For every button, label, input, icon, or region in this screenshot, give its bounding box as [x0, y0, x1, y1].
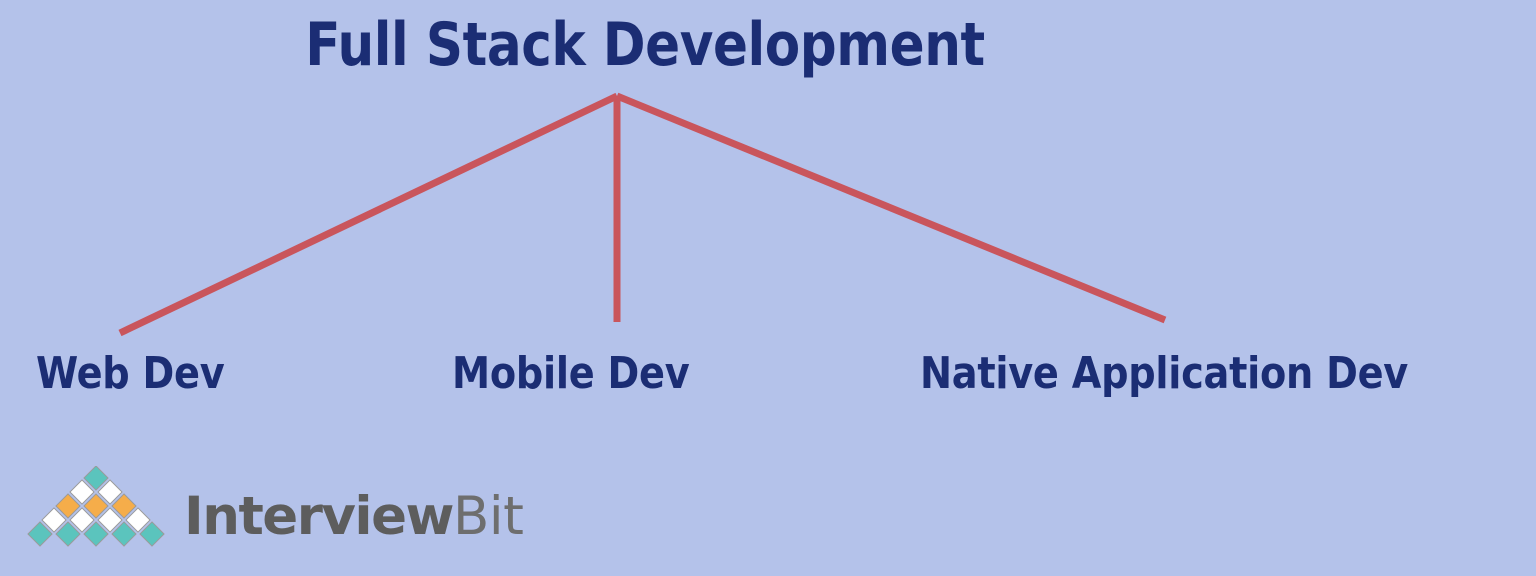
node-label-native-application-dev: Native Application Dev: [920, 352, 1408, 396]
logo-wordmark: InterviewBit: [184, 490, 523, 543]
node-label-mobile-dev: Mobile Dev: [452, 352, 689, 396]
interviewbit-logo: InterviewBit: [26, 466, 523, 562]
page-title: Full Stack Development: [90, 14, 1199, 77]
edge-to-web-dev: [120, 96, 617, 333]
diagram-canvas: Full Stack Development Web Dev Mobile De…: [0, 0, 1536, 576]
interviewbit-diamond-triangle-icon: [26, 466, 166, 562]
logo-word-interview: Interview: [184, 486, 453, 547]
edge-to-native-dev: [617, 96, 1165, 320]
logo-word-bit: Bit: [453, 486, 523, 547]
node-label-web-dev: Web Dev: [36, 352, 224, 396]
